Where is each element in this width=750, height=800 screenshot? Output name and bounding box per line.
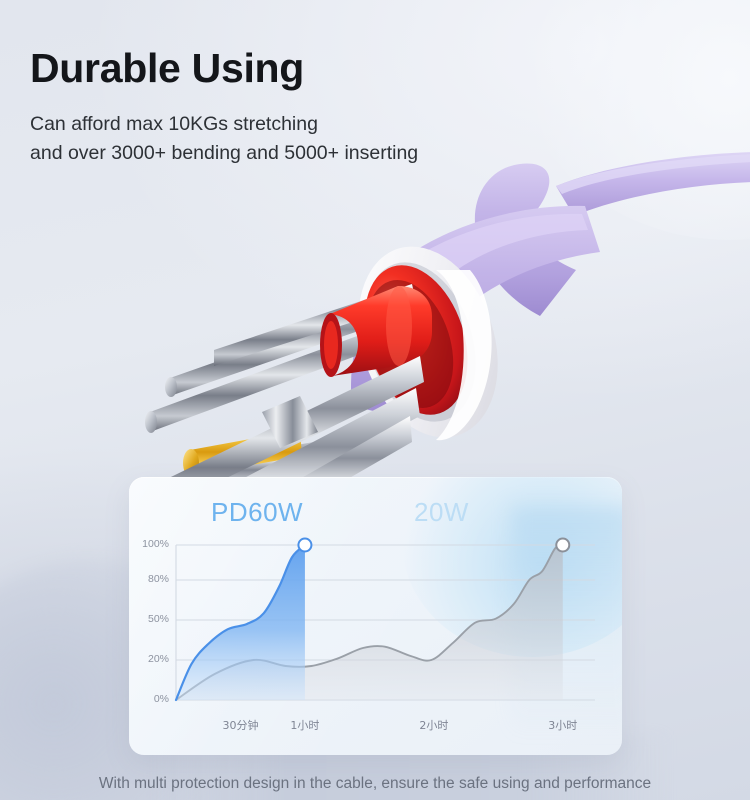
page-title: Durable Using (30, 47, 304, 90)
chart-y-tick-label: 20% (129, 653, 169, 665)
footer-caption: With multi protection design in the cabl… (0, 775, 750, 793)
chart-endpoint-marker-pd60w (298, 539, 311, 552)
cable-cross-section-image (0, 120, 750, 480)
chart-endpoint-marker-20w (556, 539, 569, 552)
cable-strand-end-caps (120, 377, 177, 480)
chart-x-tick-label: 1小时 (270, 717, 340, 733)
chart-y-tick-label: 100% (129, 538, 169, 550)
chart-y-tick-label: 50% (129, 613, 169, 625)
page-root: Durable Using Can afford max 10KGs stret… (0, 0, 750, 800)
chart-x-tick-label: 3小时 (528, 717, 598, 733)
charging-speed-chart-card: PD60W 20W (129, 477, 622, 755)
chart-plot-area (129, 477, 622, 755)
chart-area-pd60w (176, 545, 305, 700)
chart-y-tick-label: 0% (129, 693, 169, 705)
chart-y-tick-label: 80% (129, 573, 169, 585)
chart-x-tick-label: 30分钟 (205, 717, 275, 733)
chart-x-tick-label: 2小时 (399, 717, 469, 733)
